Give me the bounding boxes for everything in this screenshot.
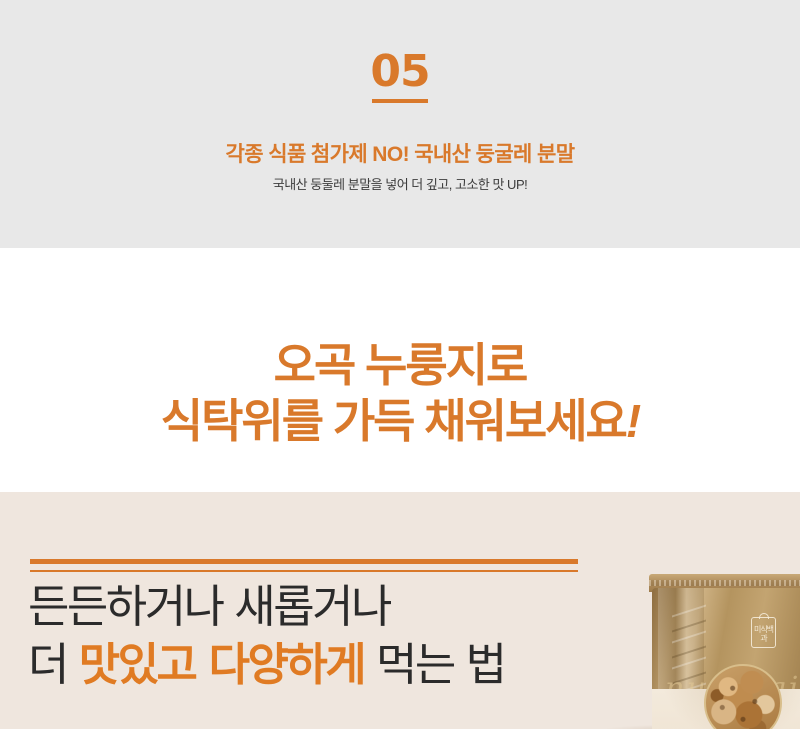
usage-line-2-suffix: 먹는 법 (364, 638, 504, 691)
divider-thick (30, 559, 578, 564)
feature-step-section: 05 각종 식품 첨가제 NO! 국내산 둥굴레 분말 국내산 둥둘레 분말을 … (0, 0, 800, 248)
step-number: 05 (0, 48, 800, 96)
headline-line-2: 식탁위를 가득 채워보세요! (0, 393, 800, 449)
step-number-underline (372, 99, 428, 103)
usage-line-2: 더 맛있고 다양하게 먹는 법 (28, 636, 588, 694)
usage-copy: 든든하거나 새롭거나 더 맛있고 다양하게 먹는 법 (28, 578, 588, 694)
package-crease (672, 630, 706, 658)
usage-section: 든든하거나 새롭거나 더 맛있고 다양하게 먹는 법 nurungji 미식백과… (0, 492, 800, 729)
package-crease (672, 656, 706, 684)
divider-thin (30, 570, 578, 572)
usage-line-2-prefix: 더 (28, 638, 79, 691)
package-product-window (704, 664, 782, 729)
usage-line-2-accent: 맛있고 다양하게 (79, 638, 364, 691)
main-headline: 오곡 누룽지로 식탁위를 가득 채워보세요! (0, 337, 800, 449)
usage-line-1: 든든하거나 새롭거나 (28, 578, 588, 636)
product-package-image: nurungji 미식백과 미식백과 오곡누룽지 (647, 574, 800, 729)
package-body: nurungji 미식백과 미식백과 오곡누룽지 (652, 588, 800, 729)
headline-exclamation: ! (626, 395, 639, 447)
headline-section: 오곡 누룽지로 식탁위를 가득 채워보세요! (0, 248, 800, 492)
product-detail-page: 05 각종 식품 첨가제 NO! 국내산 둥굴레 분말 국내산 둥둘레 분말을 … (0, 0, 800, 729)
feature-subtitle: 국내산 둥둘레 분말을 넣어 더 깊고, 고소한 맛 UP! (0, 175, 800, 195)
headline-line-2-text: 식탁위를 가득 채워보세요 (161, 395, 626, 447)
headline-line-1: 오곡 누룽지로 (274, 339, 527, 391)
brand-seal-icon: 미식백과 (751, 617, 776, 648)
package-crease (672, 604, 706, 632)
feature-title: 각종 식품 첨가제 NO! 국내산 둥굴레 분말 (0, 141, 800, 169)
